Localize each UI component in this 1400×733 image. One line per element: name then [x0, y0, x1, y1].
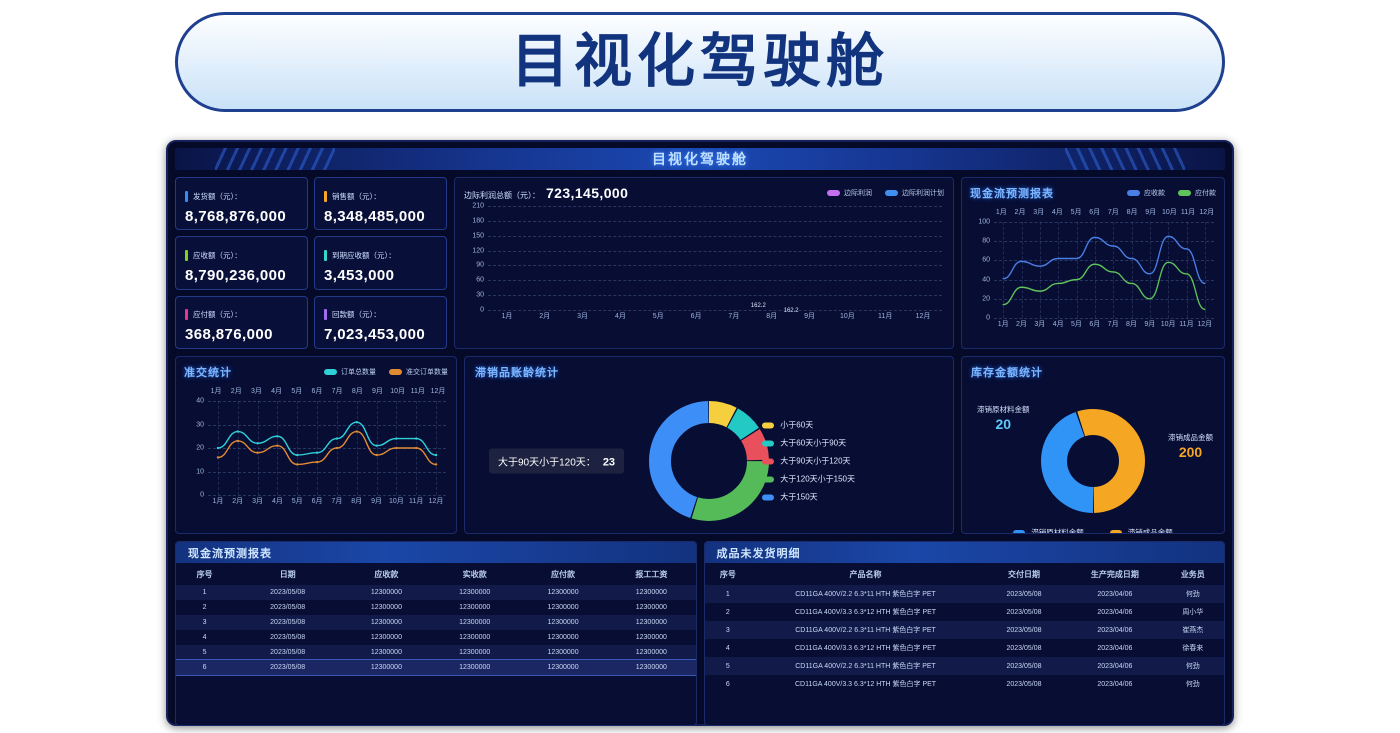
data-point[interactable]	[356, 421, 358, 423]
legend-item[interactable]: 大于90天小于120天	[762, 456, 855, 467]
table-row[interactable]: 62023/05/0812300000123000001230000012300…	[176, 660, 696, 675]
table-cell: 2023/05/08	[233, 630, 342, 645]
ontime-delivery-chart-panel: 准交统计 订单总数量准交订单数量 1月2月3月4月5月6月7月8月9月10月11…	[175, 356, 457, 534]
inventory-donut-legend: 滞销原材料金额滞销成品金额	[971, 527, 1215, 534]
kpi-label-row: 销售额（元）：	[324, 191, 437, 202]
data-point[interactable]	[375, 454, 377, 456]
cashflow-panel-header: 现金流预测报表 应收款应付款	[970, 185, 1216, 201]
undelivered-table: 序号产品名称交付日期生产完成日期业务员 1CD11GA 400V/2.2 6.3…	[705, 563, 1225, 693]
kpi-value: 8,790,236,000	[185, 267, 298, 284]
legend-color-dot	[762, 458, 774, 464]
inventory-panel-title: 库存金额统计	[971, 364, 1215, 380]
bar-chart-legend: 边际利润边际利润计划	[827, 188, 944, 198]
y-tick-label: 60	[982, 257, 990, 264]
column-header[interactable]: 序号	[705, 563, 752, 585]
aging-tooltip-label: 大于90天小于120天：	[498, 458, 596, 469]
table-cell: 2023/04/06	[1068, 657, 1162, 675]
table-cell: 12300000	[342, 615, 430, 630]
gridline	[488, 295, 942, 296]
gridline	[488, 221, 942, 222]
kpi-value: 8,768,876,000	[185, 208, 298, 225]
x-tick-label: 12月	[904, 311, 942, 324]
table-row[interactable]: 4CD11GA 400V/3.3 6.3*12 HTH 紫色白字 PET2023…	[705, 639, 1225, 657]
dashboard-row-1: 发货额（元）：8,768,876,000销售额（元）：8,348,485,000…	[175, 177, 1225, 349]
x-tick-label: 2月	[1011, 207, 1030, 217]
gridline	[488, 251, 942, 252]
data-point[interactable]	[435, 463, 437, 465]
x-tick-label: 9月	[1141, 207, 1160, 217]
x-tick-label: 10月	[1160, 207, 1179, 217]
inventory-donut-chart[interactable]	[1041, 409, 1145, 513]
ontime-gridlines	[208, 401, 446, 495]
cashflow-forecast-chart-panel: 现金流预测报表 应收款应付款 1月2月3月4月5月6月7月8月9月10月11月1…	[961, 177, 1225, 349]
x-tick-label: 7月	[715, 311, 753, 324]
legend-label: 应收款	[1144, 188, 1165, 198]
y-tick-label: 100	[978, 219, 990, 226]
line-series[interactable]	[1003, 262, 1205, 309]
undelivered-table-head: 序号产品名称交付日期生产完成日期业务员	[705, 563, 1225, 585]
dashboard-header-title: 目视化驾驶舱	[652, 149, 748, 169]
x-tick-label: 5月	[287, 386, 307, 396]
x-tick-label: 7月	[1104, 319, 1122, 332]
data-point[interactable]	[356, 430, 358, 432]
data-point[interactable]	[256, 442, 258, 444]
table-cell: 崔燕杰	[1162, 621, 1224, 639]
bar-chart-gridlines: 162.2162.2	[488, 206, 942, 310]
table-cell: 2023/05/08	[233, 585, 342, 600]
legend-label: 小于60天	[780, 420, 813, 431]
x-tick-label: 3月	[1031, 319, 1049, 332]
legend-color-dot	[324, 369, 337, 375]
cashflow-chart-legend: 应收款应付款	[1127, 188, 1216, 198]
cashflow-table: 序号日期应收款实收款应付款报工工资 12023/05/0812300000123…	[176, 563, 696, 675]
dashboard-row-3: 现金流预测报表 序号日期应收款实收款应付款报工工资 12023/05/08123…	[175, 541, 1225, 726]
legend-item[interactable]: 准交订单数量	[389, 367, 448, 377]
legend-label: 大于90天小于120天	[780, 456, 850, 467]
dashboard-row-2: 准交统计 订单总数量准交订单数量 1月2月3月4月5月6月7月8月9月10月11…	[175, 356, 1225, 534]
x-tick-label: 5月	[287, 496, 307, 509]
gridline	[488, 265, 942, 266]
table-cell: 12300000	[519, 645, 607, 660]
table-cell: 2023/05/08	[980, 603, 1068, 621]
table-cell: 12300000	[342, 585, 430, 600]
dashboard-frame: 目视化驾驶舱 发货额（元）：8,768,876,000销售额（元）：8,348,…	[166, 140, 1234, 726]
data-point[interactable]	[395, 447, 397, 449]
column-header[interactable]: 交付日期	[980, 563, 1068, 585]
table-cell: CD11GA 400V/3.3 6.3*12 HTH 紫色白字 PET	[751, 603, 980, 621]
legend-color-dot	[1110, 530, 1122, 535]
data-point[interactable]	[276, 444, 278, 446]
table-cell: CD11GA 400V/3.3 6.3*12 HTH 紫色白字 PET	[751, 675, 980, 693]
table-row[interactable]: 6CD11GA 400V/3.3 6.3*12 HTH 紫色白字 PET2023…	[705, 675, 1225, 693]
table-row[interactable]: 22023/05/0812300000123000001230000012300…	[176, 600, 696, 615]
table-cell: 12300000	[519, 615, 607, 630]
table-cell: 12300000	[431, 660, 519, 675]
bar-chart-x-axis: 1月2月3月4月5月6月7月8月9月10月11月12月	[488, 311, 942, 324]
table-cell: 3	[176, 615, 233, 630]
legend-color-dot	[827, 190, 840, 196]
x-tick-label: 8月	[1122, 319, 1140, 332]
x-tick-label: 2月	[1012, 319, 1030, 332]
table-cell: 2	[705, 603, 752, 621]
legend-item[interactable]: 应收款	[1127, 188, 1165, 198]
table-cell: 2023/04/06	[1068, 585, 1162, 603]
x-tick-label: 8月	[753, 311, 791, 324]
table-cell: 2023/05/08	[980, 657, 1068, 675]
undelivered-goods-table-panel: 成品未发货明细 序号产品名称交付日期生产完成日期业务员 1CD11GA 400V…	[704, 541, 1226, 726]
table-cell: 5	[176, 645, 233, 660]
table-cell: 2023/05/08	[980, 639, 1068, 657]
line-series[interactable]	[218, 432, 436, 465]
legend-color-dot	[389, 369, 402, 375]
y-tick-label: 20	[196, 445, 204, 452]
x-tick-label: 6月	[307, 496, 327, 509]
cashflow-y-axis: 020406080100	[970, 222, 992, 318]
legend-label: 大于120天小于150天	[780, 474, 855, 485]
table-cell: 12300000	[431, 585, 519, 600]
x-tick-label: 6月	[1085, 207, 1104, 217]
table-cell: 2023/05/08	[233, 660, 342, 675]
table-cell: 何劲	[1162, 585, 1224, 603]
x-tick-label: 10月	[386, 496, 406, 509]
kpi-label: 到期应收额（元）：	[332, 250, 396, 261]
table-cell: 12300000	[431, 630, 519, 645]
legend-item[interactable]: 大于120天小于150天	[762, 474, 855, 485]
table-cell: 2023/05/08	[980, 675, 1068, 693]
legend-item[interactable]: 大于150天	[762, 492, 855, 503]
y-tick-label: 10	[196, 468, 204, 475]
kpi-card[interactable]: 销售额（元）：8,348,485,000	[314, 177, 447, 230]
table-cell: 12300000	[607, 615, 695, 630]
table-cell: 12300000	[342, 645, 430, 660]
table-row[interactable]: 32023/05/0812300000123000001230000012300…	[176, 615, 696, 630]
table-cell: 2023/04/06	[1068, 621, 1162, 639]
inventory-amount-panel: 库存金额统计 滞销原材料金额 20 滞销成品金额 200 滞销原材料金额滞销成品…	[961, 356, 1225, 534]
kpi-value: 7,023,453,000	[324, 326, 437, 343]
column-header[interactable]: 应付款	[519, 563, 607, 585]
legend-color-dot	[885, 190, 898, 196]
table-cell: 4	[176, 630, 233, 645]
inventory-callout-finished: 滞销成品金额 200	[1168, 432, 1213, 460]
cashflow-gridlines	[994, 222, 1214, 318]
x-tick-label: 8月	[347, 496, 367, 509]
legend-color-dot	[1178, 190, 1191, 196]
y-tick-label: 120	[472, 247, 484, 254]
ontime-panel-title: 准交统计	[184, 364, 232, 380]
inventory-donut-wrap: 滞销原材料金额 20 滞销成品金额 200 滞销原材料金额滞销成品金额	[971, 380, 1215, 534]
kpi-label: 应收额（元）：	[193, 250, 242, 261]
table-row[interactable]: 3CD11GA 400V/2.2 6.3*11 HTH 紫色白字 PET2023…	[705, 621, 1225, 639]
table-cell: 2023/04/06	[1068, 639, 1162, 657]
y-tick-label: 150	[472, 232, 484, 239]
header-decoration-right	[1065, 148, 1185, 170]
kpi-color-tick	[324, 309, 327, 320]
ontime-x-axis-top: 1月2月3月4月5月6月7月8月9月10月11月12月	[184, 386, 448, 396]
table-cell: 2	[176, 600, 233, 615]
y-tick-label: 60	[476, 277, 484, 284]
cashflow-x-axis: 1月2月3月4月5月6月7月8月9月10月11月12月	[994, 319, 1214, 332]
aging-donut-svg[interactable]	[649, 401, 769, 521]
data-point[interactable]	[296, 454, 298, 456]
y-tick-label: 30	[476, 292, 484, 299]
kpi-color-tick	[324, 250, 327, 261]
cashflow-table-header: 现金流预测报表	[176, 542, 696, 563]
x-tick-label: 7月	[327, 386, 347, 396]
x-tick-label: 8月	[347, 386, 367, 396]
kpi-card[interactable]: 回款额（元）：7,023,453,000	[314, 296, 447, 349]
ontime-panel-header: 准交统计 订单总数量准交订单数量	[184, 364, 448, 380]
data-point[interactable]	[237, 430, 239, 432]
table-cell: CD11GA 400V/2.2 6.3*11 HTH 紫色白字 PET	[751, 657, 980, 675]
table-cell: 12300000	[431, 645, 519, 660]
cashflow-table-title: 现金流预测报表	[188, 545, 272, 561]
x-tick-label: 9月	[367, 386, 387, 396]
legend-item[interactable]: 滞销原材料金额	[1013, 527, 1084, 534]
margin-profit-bar-panel: 边际利润总额（元）： 723,145,000 边际利润边际利润计划 030609…	[454, 177, 954, 349]
kpi-label-row: 到期应收额（元）：	[324, 250, 437, 261]
x-tick-label: 3月	[246, 386, 266, 396]
kpi-color-tick	[185, 191, 188, 202]
ontime-chart-plot: 010203040 1月2月3月4月5月6月7月8月9月10月11月12月	[184, 401, 448, 509]
inventory-callout-raw: 滞销原材料金额 20	[977, 404, 1030, 432]
kpi-label: 销售额（元）：	[332, 191, 381, 202]
column-header[interactable]: 生产完成日期	[1068, 563, 1162, 585]
undelivered-table-header: 成品未发货明细	[705, 542, 1225, 563]
x-tick-label: 2月	[226, 386, 246, 396]
legend-color-dot	[762, 440, 774, 446]
column-header[interactable]: 业务员	[1162, 563, 1224, 585]
kpi-card-group: 发货额（元）：8,768,876,000销售额（元）：8,348,485,000…	[175, 177, 447, 349]
data-point[interactable]	[375, 444, 377, 446]
cashflow-x-axis-top: 1月2月3月4月5月6月7月8月9月10月11月12月	[970, 207, 1216, 217]
data-point[interactable]	[237, 440, 239, 442]
y-tick-label: 40	[196, 398, 204, 405]
table-row[interactable]: 12023/05/0812300000123000001230000012300…	[176, 585, 696, 600]
x-tick-label: 2月	[526, 311, 564, 324]
data-point[interactable]	[336, 437, 338, 439]
kpi-value: 368,876,000	[185, 326, 298, 343]
legend-item[interactable]: 订单总数量	[324, 367, 376, 377]
legend-item[interactable]: 大于60天小于90天	[762, 438, 855, 449]
data-point[interactable]	[415, 437, 417, 439]
y-tick-label: 40	[982, 276, 990, 283]
kpi-card[interactable]: 发货额（元）：8,768,876,000	[175, 177, 308, 230]
page-title: 目视化驾驶舱	[511, 33, 889, 91]
legend-item[interactable]: 滞销成品金额	[1110, 527, 1173, 534]
column-header[interactable]: 产品名称	[751, 563, 980, 585]
data-point[interactable]	[276, 435, 278, 437]
data-point[interactable]	[316, 461, 318, 463]
kpi-row: 发货额（元）：8,768,876,000销售额（元）：8,348,485,000	[175, 177, 447, 230]
table-cell: 6	[705, 675, 752, 693]
y-tick-label: 0	[480, 307, 484, 314]
table-cell: 12300000	[519, 660, 607, 675]
gridline	[488, 280, 942, 281]
kpi-label-row: 应收额（元）：	[185, 250, 298, 261]
x-tick-label: 10月	[1159, 319, 1177, 332]
x-tick-label: 7月	[1104, 207, 1123, 217]
kpi-label: 回款额（元）：	[332, 309, 381, 320]
table-cell: 12300000	[342, 660, 430, 675]
table-cell: 2023/05/08	[233, 615, 342, 630]
table-cell: CD11GA 400V/3.3 6.3*12 HTH 紫色白字 PET	[751, 639, 980, 657]
x-tick-label: 11月	[866, 311, 904, 324]
table-cell: 1	[705, 585, 752, 603]
x-tick-label: 7月	[327, 496, 347, 509]
kpi-color-tick	[185, 250, 188, 261]
column-header[interactable]: 应收款	[342, 563, 430, 585]
table-row[interactable]: 2CD11GA 400V/3.3 6.3*12 HTH 紫色白字 PET2023…	[705, 603, 1225, 621]
kpi-row: 应付额（元）：368,876,000回款额（元）：7,023,453,000	[175, 296, 447, 349]
cashflow-chart-plot: 020406080100 1月2月3月4月5月6月7月8月9月10月11月12月	[970, 222, 1216, 332]
data-point[interactable]	[316, 452, 318, 454]
table-cell: 1	[176, 585, 233, 600]
x-tick-label: 11月	[408, 386, 428, 396]
table-cell: 12300000	[342, 630, 430, 645]
cashflow-panel-title: 现金流预测报表	[970, 185, 1054, 201]
table-cell: 12300000	[607, 600, 695, 615]
data-point[interactable]	[395, 437, 397, 439]
x-tick-label: 9月	[791, 311, 829, 324]
inventory-callout-finished-label: 滞销成品金额	[1168, 433, 1213, 442]
legend-label: 边际利润	[844, 188, 872, 198]
x-tick-label: 12月	[1197, 207, 1216, 217]
y-tick-label: 0	[200, 492, 204, 499]
legend-item[interactable]: 应付款	[1178, 188, 1216, 198]
table-cell: 2023/05/08	[980, 585, 1068, 603]
data-point[interactable]	[296, 463, 298, 465]
table-cell: 12300000	[431, 600, 519, 615]
legend-color-dot	[762, 422, 774, 428]
legend-item[interactable]: 小于60天	[762, 420, 855, 431]
table-cell: 12300000	[342, 600, 430, 615]
x-tick-label: 6月	[307, 386, 327, 396]
bar-value-label: 162.2	[751, 303, 766, 309]
kpi-color-tick	[185, 309, 188, 320]
legend-color-dot	[762, 476, 774, 482]
y-tick-label: 20	[982, 295, 990, 302]
y-tick-label: 210	[472, 203, 484, 210]
kpi-label-row: 发货额（元）：	[185, 191, 298, 202]
table-row[interactable]: 52023/05/0812300000123000001230000012300…	[176, 645, 696, 660]
ontime-x-axis: 1月2月3月4月5月6月7月8月9月10月11月12月	[208, 496, 446, 509]
column-header[interactable]: 日期	[233, 563, 342, 585]
x-tick-label: 6月	[1086, 319, 1104, 332]
kpi-color-tick	[324, 191, 327, 202]
kpi-card[interactable]: 到期应收额（元）：3,453,000	[314, 236, 447, 289]
y-tick-label: 180	[472, 217, 484, 224]
bar-chart-y-axis: 0306090120150180210	[464, 206, 486, 310]
y-tick-label: 80	[982, 238, 990, 245]
x-tick-label: 5月	[1067, 319, 1085, 332]
table-cell: 12300000	[607, 660, 695, 675]
table-row[interactable]: 5CD11GA 400V/2.2 6.3*11 HTH 紫色白字 PET2023…	[705, 657, 1225, 675]
bar-panel-headline: 边际利润总额（元）： 723,145,000	[464, 185, 628, 201]
data-point[interactable]	[415, 447, 417, 449]
table-cell: 3	[705, 621, 752, 639]
page-banner: 目视化驾驶舱	[175, 12, 1225, 112]
x-tick-label: 11月	[406, 496, 426, 509]
x-tick-label: 4月	[1048, 207, 1067, 217]
legend-item[interactable]: 边际利润计划	[885, 188, 944, 198]
legend-color-dot	[1013, 530, 1025, 535]
aging-panel-title: 滞销品账龄统计	[475, 364, 943, 380]
table-cell: 2023/04/06	[1068, 603, 1162, 621]
legend-label: 订单总数量	[341, 367, 376, 377]
legend-label: 滞销原材料金额	[1031, 527, 1084, 534]
legend-label: 边际利润计划	[902, 188, 944, 198]
aging-tooltip-value: 23	[603, 457, 615, 469]
gridline	[488, 206, 942, 207]
data-point[interactable]	[435, 454, 437, 456]
cashflow-forecast-table-panel: 现金流预测报表 序号日期应收款实收款应付款报工工资 12023/05/08123…	[175, 541, 697, 726]
y-tick-label: 30	[196, 421, 204, 428]
table-cell: 12300000	[519, 630, 607, 645]
table-cell: 周小华	[1162, 603, 1224, 621]
legend-color-dot	[1127, 190, 1140, 196]
table-cell: 2023/05/08	[233, 645, 342, 660]
aging-donut-panel: 滞销品账龄统计 大于90天小于120天：23 小于60天大于60天小于90天大于…	[464, 356, 954, 534]
x-tick-label: 9月	[1141, 319, 1159, 332]
cashflow-table-head: 序号日期应收款实收款应付款报工工资	[176, 563, 696, 585]
legend-label: 准交订单数量	[406, 367, 448, 377]
x-tick-label: 1月	[992, 207, 1011, 217]
table-cell: 2023/04/06	[1068, 675, 1162, 693]
table-cell: 4	[705, 639, 752, 657]
table-row[interactable]: 1CD11GA 400V/2.2 6.3*11 HTH 紫色白字 PET2023…	[705, 585, 1225, 603]
bar-panel-value: 723,145,000	[546, 185, 628, 201]
x-tick-label: 3月	[1029, 207, 1048, 217]
x-tick-label: 4月	[267, 386, 287, 396]
kpi-row: 应收额（元）：8,790,236,000到期应收额（元）：3,453,000	[175, 236, 447, 289]
line-chart-svg	[994, 222, 1214, 318]
kpi-label: 应付额（元）：	[193, 309, 242, 320]
x-tick-label: 4月	[1049, 319, 1067, 332]
line-chart-svg	[208, 401, 446, 495]
data-point[interactable]	[217, 447, 219, 449]
kpi-card[interactable]: 应收额（元）：8,790,236,000	[175, 236, 308, 289]
kpi-label-row: 回款额（元）：	[324, 309, 437, 320]
undelivered-table-body: 1CD11GA 400V/2.2 6.3*11 HTH 紫色白字 PET2023…	[705, 585, 1225, 693]
y-tick-label: 0	[986, 315, 990, 322]
inventory-callout-finished-value: 200	[1168, 444, 1213, 460]
x-tick-label: 1月	[488, 311, 526, 324]
data-point[interactable]	[336, 447, 338, 449]
column-header[interactable]: 序号	[176, 563, 233, 585]
x-tick-label: 6月	[677, 311, 715, 324]
aging-donut-chart[interactable]	[649, 401, 769, 521]
column-header[interactable]: 报工工资	[607, 563, 695, 585]
kpi-value: 3,453,000	[324, 267, 437, 284]
table-cell: 5	[705, 657, 752, 675]
column-header[interactable]: 实收款	[431, 563, 519, 585]
x-tick-label: 2月	[228, 496, 248, 509]
data-point[interactable]	[217, 456, 219, 458]
table-cell: CD11GA 400V/2.2 6.3*11 HTH 紫色白字 PET	[751, 585, 980, 603]
x-tick-label: 4月	[601, 311, 639, 324]
x-tick-label: 3月	[248, 496, 268, 509]
table-cell: 2023/05/08	[980, 621, 1068, 639]
inventory-callout-raw-value: 20	[977, 416, 1030, 432]
line-series[interactable]	[1003, 236, 1205, 283]
data-point[interactable]	[256, 452, 258, 454]
inventory-donut-svg[interactable]	[1041, 409, 1145, 513]
kpi-card[interactable]: 应付额（元）：368,876,000	[175, 296, 308, 349]
table-header-row: 序号产品名称交付日期生产完成日期业务员	[705, 563, 1225, 585]
table-row[interactable]: 42023/05/0812300000123000001230000012300…	[176, 630, 696, 645]
legend-item[interactable]: 边际利润	[827, 188, 872, 198]
legend-label: 大于150天	[780, 492, 817, 503]
